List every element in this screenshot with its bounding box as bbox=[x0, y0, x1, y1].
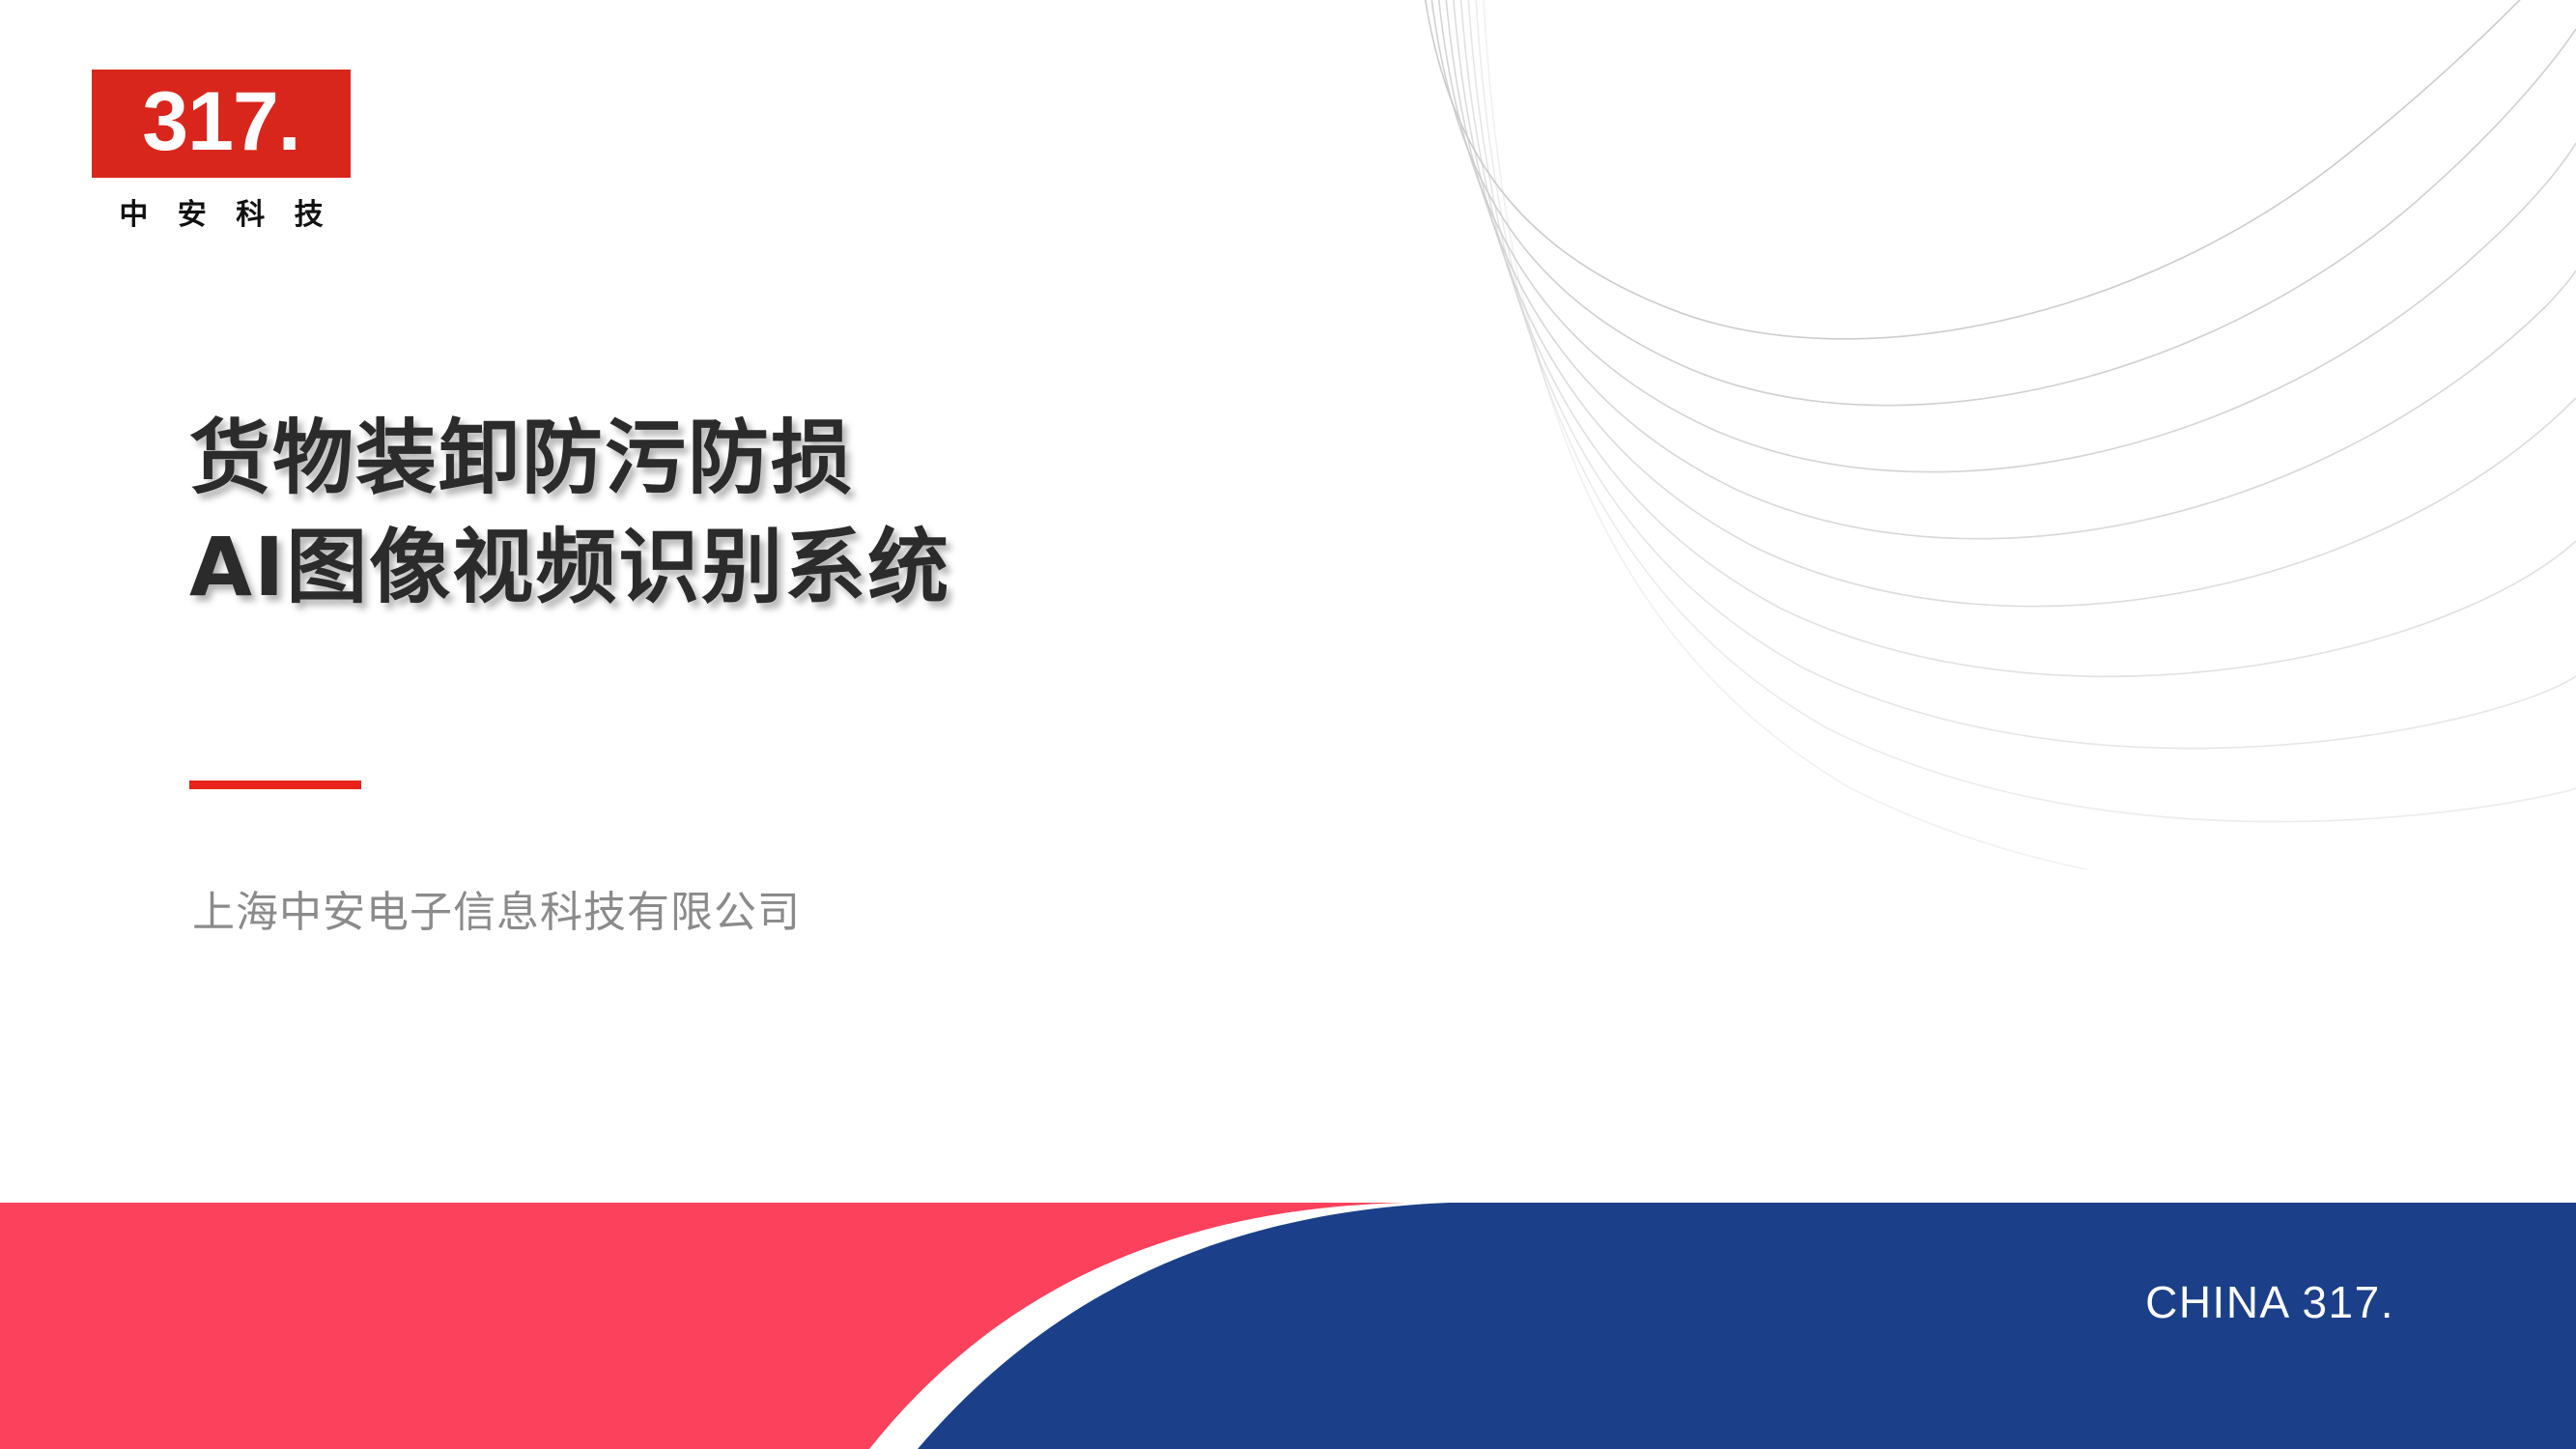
logo-company-short-name: 中 安 科 技 bbox=[92, 190, 351, 233]
company-logo: 317. 中 安 科 技 bbox=[92, 70, 351, 233]
title-line-1: 货物装卸防污防损 bbox=[189, 404, 1445, 513]
logo-mark-317: 317. bbox=[92, 70, 351, 178]
slide-canvas: 317. 中 安 科 技 货物装卸防污防损 AI图像视频识别系统 上海中安电子信… bbox=[0, 0, 2576, 1449]
curved-line-fan-decoration bbox=[1352, 0, 2576, 869]
company-subtitle: 上海中安电子信息科技有限公司 bbox=[192, 877, 801, 939]
page-title: 货物装卸防污防损 AI图像视频识别系统 bbox=[189, 404, 1445, 621]
title-line-2: AI图像视频识别系统 bbox=[189, 513, 1445, 622]
logo-mark-text: 317. bbox=[142, 80, 299, 163]
banner-wordmark: CHINA 317. bbox=[2145, 1276, 2394, 1328]
title-divider-rule bbox=[189, 781, 361, 789]
footer-banner: CHINA 317. bbox=[0, 1203, 2576, 1449]
